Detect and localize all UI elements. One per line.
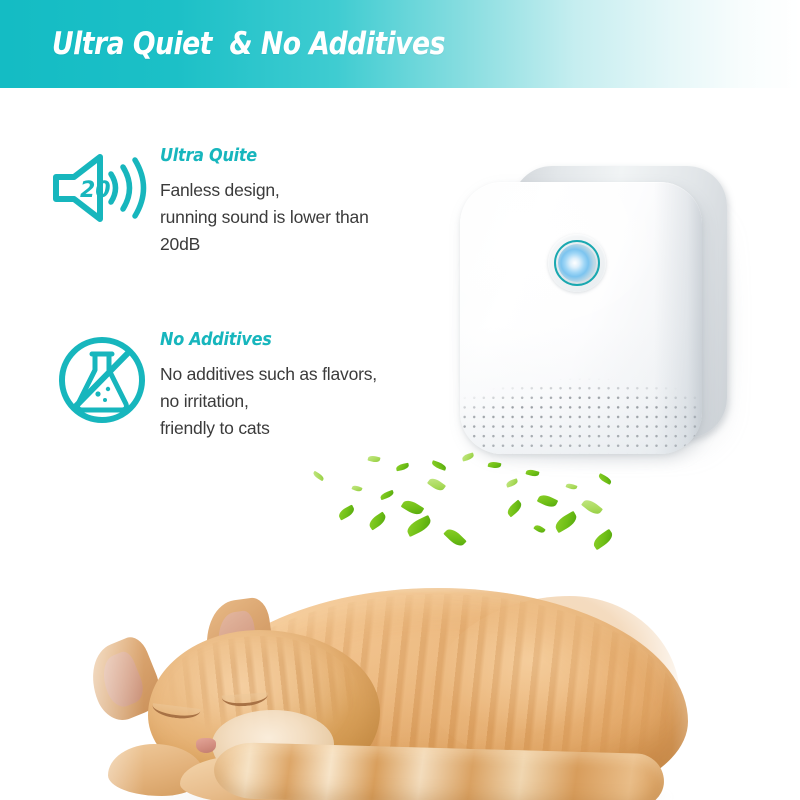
leaf [401, 497, 425, 517]
sleeping-orange-tabby-cat [0, 560, 800, 800]
feature-text-block: No Additives No additives such as flavor… [156, 330, 377, 442]
status-light-ring [554, 240, 600, 286]
leaf [312, 471, 325, 482]
leaf [565, 482, 577, 490]
leaf [488, 461, 502, 469]
feature-no-additives: No Additives No additives such as flavor… [48, 330, 377, 442]
leaf [443, 526, 466, 549]
status-light-icon [548, 234, 606, 292]
device-front-body [460, 182, 702, 454]
feature-body: Fanless design, running sound is lower t… [160, 177, 369, 258]
cat-nose [196, 738, 216, 753]
leaf [431, 460, 447, 471]
feature-body-line: Fanless design, [160, 177, 369, 204]
floating-leaves [310, 448, 640, 568]
page-title: Ultra Quiet & No Additives [52, 26, 445, 62]
feature-heading: No Additives [160, 330, 360, 350]
feature-body-line: friendly to cats [160, 415, 377, 442]
leaf [505, 478, 518, 487]
leaf [427, 476, 446, 493]
leaf [553, 511, 580, 533]
leaf [337, 505, 356, 521]
feature-body-line: 20dB [160, 231, 369, 258]
header-banner: Ultra Quiet & No Additives [0, 0, 800, 88]
leaf [597, 473, 612, 485]
leaf [581, 497, 603, 517]
leaf [351, 484, 362, 492]
leaf [367, 455, 380, 464]
feature-ultra-quiet: 20 Ultra Quite Fanless design, running s… [48, 146, 369, 258]
leaf [405, 515, 434, 537]
leaf [505, 500, 524, 518]
feature-text-block: Ultra Quite Fanless design, running soun… [156, 146, 369, 258]
leaf [379, 490, 394, 500]
leaf [396, 463, 410, 472]
feature-body-line: no irritation, [160, 388, 377, 415]
leaf [525, 468, 539, 477]
feature-body: No additives such as flavors, no irritat… [160, 361, 377, 442]
product-device-image [452, 152, 762, 472]
feature-heading: Ultra Quite [160, 146, 352, 166]
feature-body-line: No additives such as flavors, [160, 361, 377, 388]
speaker-decibel-label: 20 [80, 178, 111, 203]
leaf [367, 512, 388, 531]
no-chemicals-flask-icon [48, 330, 156, 426]
leaf [533, 523, 545, 534]
leaf [537, 492, 558, 509]
perforated-vent-panel [460, 326, 702, 454]
status-light-glow [558, 244, 596, 282]
speaker-volume-icon: 20 [48, 146, 156, 226]
feature-body-line: running sound is lower than [160, 204, 369, 231]
leaf [591, 529, 615, 550]
leaf [461, 452, 474, 461]
